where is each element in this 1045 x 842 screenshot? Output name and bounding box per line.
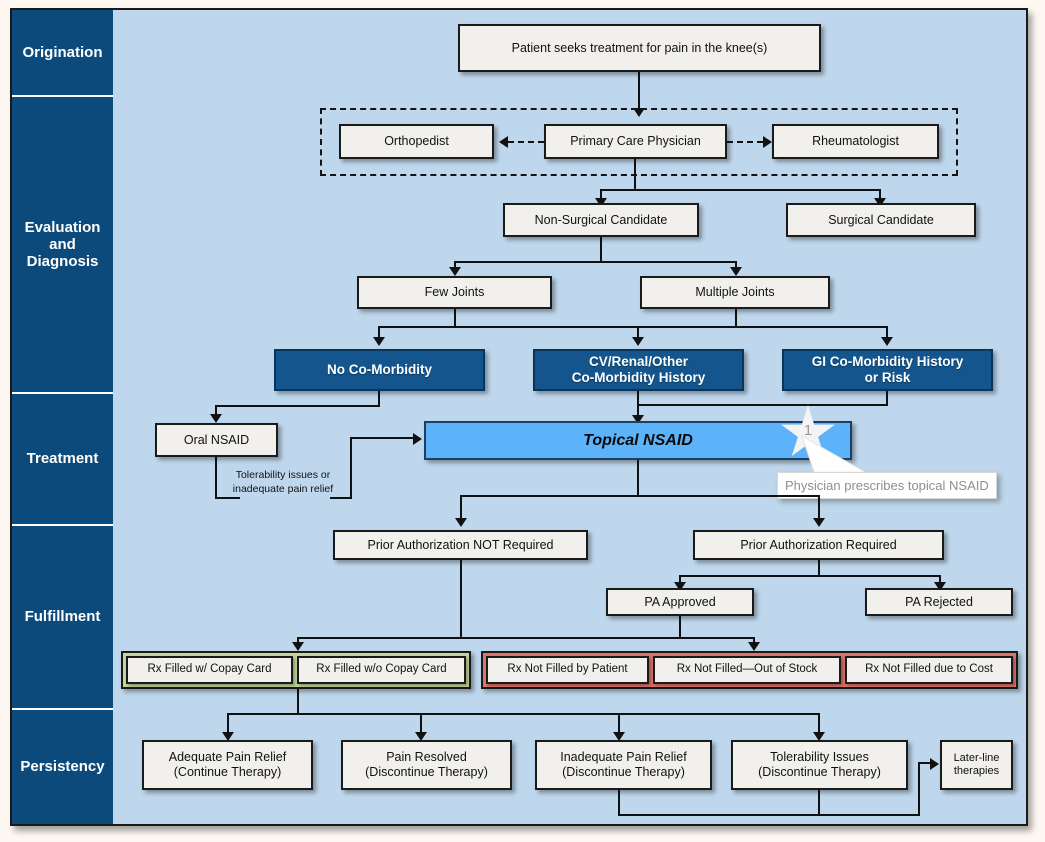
connector-arrow (813, 518, 825, 527)
connector-line (679, 616, 681, 639)
edge-label-tolerability: Tolerability issues or inadequate pain r… (222, 468, 344, 496)
node-gi-comorbidity[interactable]: GI Co-Morbidity History or Risk (782, 349, 993, 391)
connector-line (918, 762, 920, 816)
node-label-line2: (Discontinue Therapy) (365, 765, 488, 780)
node-non-surgical-candidate[interactable]: Non-Surgical Candidate (503, 203, 699, 237)
node-rx-filled-without-copay[interactable]: Rx Filled w/o Copay Card (297, 656, 466, 684)
swimlane-label: Persistency (20, 758, 104, 775)
connector-arrow (881, 337, 893, 346)
node-cv-renal-comorbidity[interactable]: CV/Renal/Other Co-Morbidity History (533, 349, 744, 391)
connector-line (378, 326, 888, 328)
swimlane-fulfillment[interactable]: Fulfillment (12, 526, 113, 708)
node-later-line-therapies[interactable]: Later-line therapies (940, 740, 1013, 790)
connector-line (735, 309, 737, 326)
node-label: Rheumatologist (812, 134, 899, 149)
node-label-line2: therapies (954, 765, 999, 778)
node-label: PA Rejected (905, 595, 973, 610)
node-label: Multiple Joints (695, 285, 774, 300)
node-label: Patient seeks treatment for pain in the … (512, 41, 768, 56)
connector-line (215, 457, 217, 499)
node-rx-not-filled-out-of-stock[interactable]: Rx Not Filled—Out of Stock (653, 656, 841, 684)
node-pa-not-required[interactable]: Prior Authorization NOT Required (333, 530, 588, 560)
node-pain-resolved[interactable]: Pain Resolved (Discontinue Therapy) (341, 740, 512, 790)
connector-line (378, 391, 380, 405)
node-pa-required[interactable]: Prior Authorization Required (693, 530, 944, 560)
node-orthopedist[interactable]: Orthopedist (339, 124, 494, 159)
node-rx-not-filled-due-to-cost[interactable]: Rx Not Filled due to Cost (845, 656, 1013, 684)
swimlane-label: Evaluation and Diagnosis (12, 219, 113, 271)
node-label-line2: (Discontinue Therapy) (758, 765, 881, 780)
connector-line (886, 391, 888, 404)
swimlane-sidebar: Origination Evaluation and Diagnosis Tre… (12, 10, 113, 824)
node-adequate-pain-relief[interactable]: Adequate Pain Relief (Continue Therapy) (142, 740, 313, 790)
connector-arrow (730, 267, 742, 276)
node-label-line1: Inadequate Pain Relief (560, 750, 686, 765)
connector-arrow (413, 433, 422, 445)
node-label-line1: Later-line (954, 752, 1000, 765)
connector-line (454, 261, 736, 263)
swimlane-treatment[interactable]: Treatment (12, 394, 113, 524)
swimlane-persistency[interactable]: Persistency (12, 710, 113, 824)
node-few-joints[interactable]: Few Joints (357, 276, 552, 309)
connector-line (600, 237, 602, 261)
node-inadequate-pain-relief[interactable]: Inadequate Pain Relief (Discontinue Ther… (535, 740, 712, 790)
connector-line (618, 814, 920, 816)
node-rx-filled-with-copay[interactable]: Rx Filled w/ Copay Card (126, 656, 293, 684)
node-label-line2: Co-Morbidity History (572, 370, 706, 386)
node-label: Topical NSAID (583, 431, 693, 450)
connector-arrow (449, 267, 461, 276)
node-label-line2: (Discontinue Therapy) (562, 765, 685, 780)
node-label: Primary Care Physician (570, 134, 701, 149)
node-label-line2: or Risk (865, 370, 911, 386)
node-label: Rx Not Filled by Patient (507, 663, 627, 677)
node-surgical-candidate[interactable]: Surgical Candidate (786, 203, 976, 237)
node-label: Rx Not Filled due to Cost (865, 663, 993, 677)
connector-line (639, 404, 888, 406)
connector-arrow (292, 642, 304, 651)
connector-line (460, 560, 462, 639)
node-label: PA Approved (644, 595, 715, 610)
connector-line (618, 790, 620, 816)
connector-line (297, 637, 755, 639)
connector-line (637, 460, 639, 497)
swimlane-evaluation[interactable]: Evaluation and Diagnosis (12, 97, 113, 392)
connector-line (634, 159, 636, 189)
connector-arrow (499, 136, 508, 148)
node-pa-approved[interactable]: PA Approved (606, 588, 754, 616)
flowchart-root: Origination Evaluation and Diagnosis Tre… (0, 0, 1045, 842)
connector-line (460, 495, 820, 497)
connector-dashed (508, 141, 544, 143)
connector-arrow (455, 518, 467, 527)
node-label: Oral NSAID (184, 433, 249, 448)
node-label: Rx Filled w/o Copay Card (316, 663, 446, 677)
connector-line (818, 790, 820, 816)
node-label-line2: (Continue Therapy) (174, 765, 281, 780)
connector-line (679, 575, 940, 577)
connector-line (227, 713, 820, 715)
connector-arrow (763, 136, 772, 148)
connector-arrow (210, 414, 222, 423)
node-label: Prior Authorization NOT Required (368, 538, 554, 553)
connector-line (215, 405, 380, 407)
node-tolerability-issues[interactable]: Tolerability Issues (Discontinue Therapy… (731, 740, 908, 790)
connector-line (215, 497, 240, 499)
connector-line (600, 189, 880, 191)
connector-line (297, 689, 299, 715)
connector-arrow (632, 337, 644, 346)
connector-line (350, 437, 352, 499)
node-rx-not-filled-by-patient[interactable]: Rx Not Filled by Patient (486, 656, 649, 684)
node-label: Surgical Candidate (828, 213, 934, 228)
node-label: Orthopedist (384, 134, 449, 149)
connector-line (638, 72, 640, 110)
connector-line (330, 497, 352, 499)
node-label-line1: Tolerability Issues (770, 750, 869, 765)
node-no-comorbidity[interactable]: No Co-Morbidity (274, 349, 485, 391)
connector-arrow (748, 642, 760, 651)
connector-line (454, 309, 456, 326)
node-label-line1: CV/Renal/Other (589, 354, 688, 370)
node-rheumatologist[interactable]: Rheumatologist (772, 124, 939, 159)
swimlane-origination[interactable]: Origination (12, 10, 113, 95)
node-label: Prior Authorization Required (740, 538, 896, 553)
connector-arrow (930, 758, 939, 770)
node-multiple-joints[interactable]: Multiple Joints (640, 276, 830, 309)
callout-text: Physician prescribes topical NSAID (785, 478, 989, 493)
connector-line (818, 560, 820, 575)
node-label-line1: Adequate Pain Relief (169, 750, 286, 765)
node-label: Non-Surgical Candidate (535, 213, 668, 228)
swimlane-label: Origination (23, 44, 103, 61)
node-label: Rx Filled w/ Copay Card (148, 663, 272, 677)
connector-dashed (727, 141, 763, 143)
node-label-line1: Pain Resolved (386, 750, 467, 765)
node-label: Few Joints (425, 285, 485, 300)
node-primary-care-physician[interactable]: Primary Care Physician (544, 124, 727, 159)
node-label: No Co-Morbidity (327, 362, 432, 378)
node-oral-nsaid[interactable]: Oral NSAID (155, 423, 278, 457)
node-pa-rejected[interactable]: PA Rejected (865, 588, 1013, 616)
node-label: Rx Not Filled—Out of Stock (677, 663, 818, 677)
connector-arrow (373, 337, 385, 346)
node-patient-seeks-treatment[interactable]: Patient seeks treatment for pain in the … (458, 24, 821, 72)
connector-line (350, 437, 414, 439)
node-label-line1: GI Co-Morbidity History (812, 354, 964, 370)
swimlane-label: Fulfillment (25, 608, 101, 625)
swimlane-label: Treatment (27, 450, 99, 467)
